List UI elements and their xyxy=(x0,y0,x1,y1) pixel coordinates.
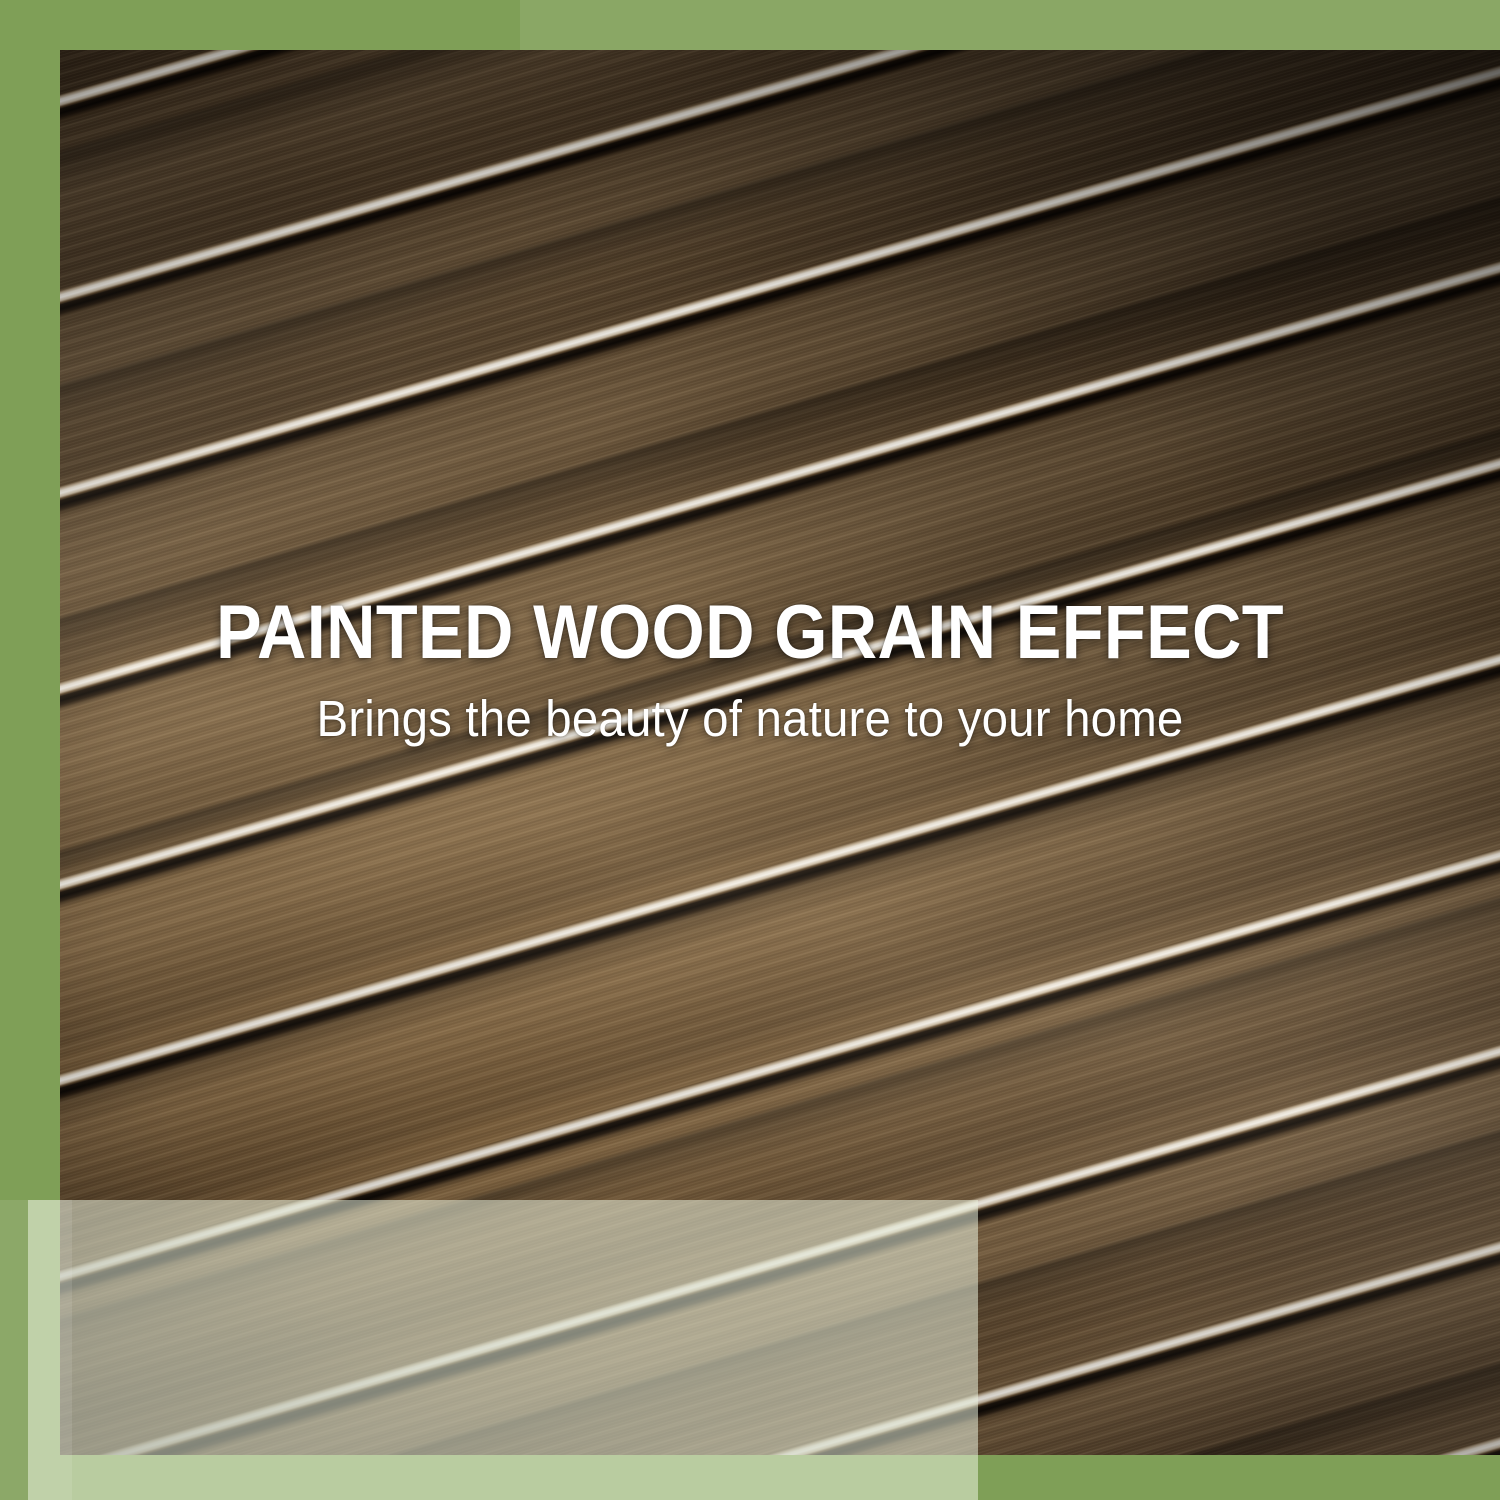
banner-canvas: PAINTED WOOD GRAIN EFFECT Brings the bea… xyxy=(0,0,1500,1500)
frame-top-accent-band xyxy=(520,0,1500,50)
slat-groove-highlights xyxy=(60,50,1500,1455)
wood-slat-field xyxy=(60,50,1500,1455)
wood-panel-photo xyxy=(60,50,1500,1455)
